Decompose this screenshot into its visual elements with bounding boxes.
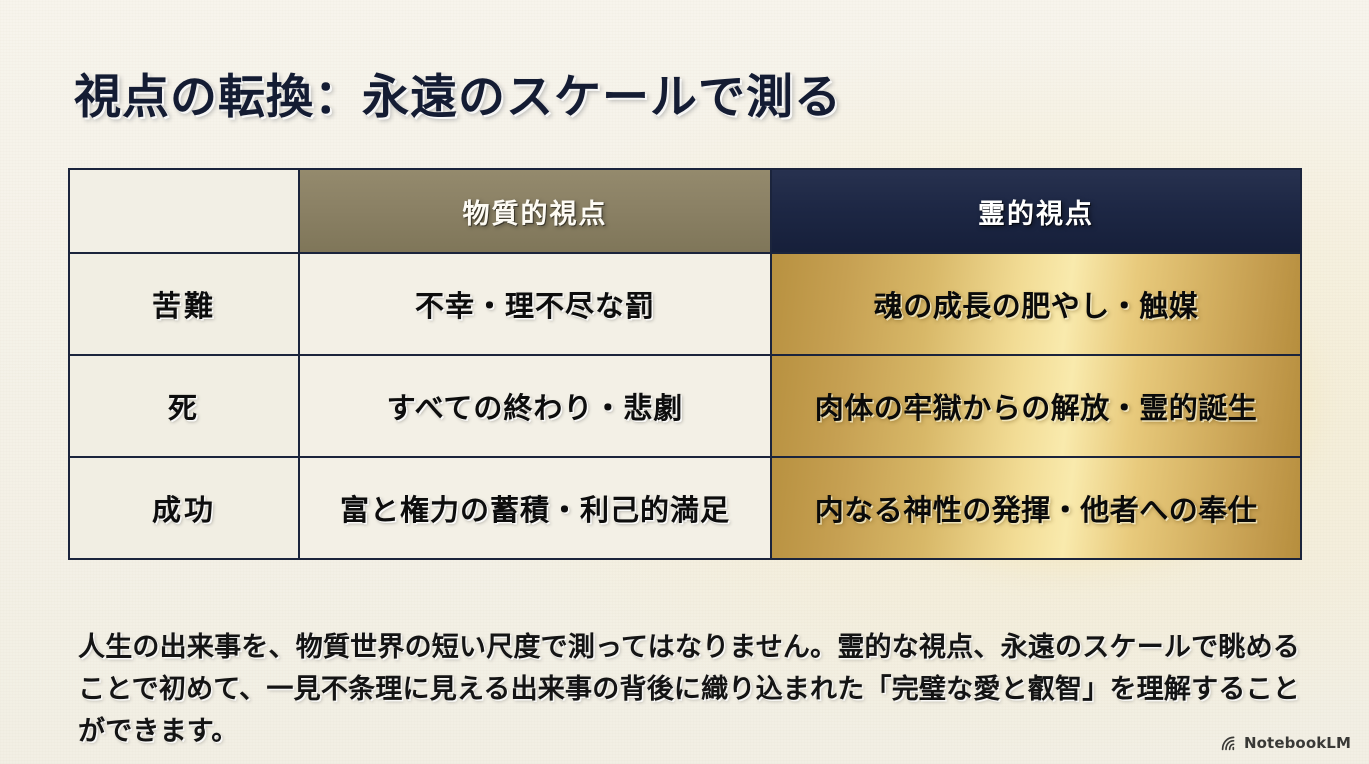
cell-spiritual-success: 内なる神性の発揮・他者への奉仕 xyxy=(771,457,1301,559)
slide-canvas: 視点の転換：永遠のスケールで測る 物質的視点 霊的視点 苦難 不幸・理不尽な罰 xyxy=(0,0,1369,764)
row-label-suffering: 苦難 xyxy=(69,253,299,355)
cell-material-suffering: 不幸・理不尽な罰 xyxy=(299,253,771,355)
notebooklm-label: NotebookLM xyxy=(1244,734,1351,752)
page-title: 視点の転換：永遠のスケールで測る xyxy=(74,58,842,127)
summary-paragraph: 人生の出来事を、物質世界の短い尺度で測ってはなりません。霊的な視点、永遠のスケー… xyxy=(78,627,1300,753)
cell-spiritual-death: 肉体の牢獄からの解放・霊的誕生 xyxy=(771,355,1301,457)
cell-material-death: すべての終わり・悲劇 xyxy=(299,355,771,457)
table-row: 死 すべての終わり・悲劇 肉体の牢獄からの解放・霊的誕生 xyxy=(69,355,1301,457)
cell-spiritual-suffering: 魂の成長の肥やし・触媒 xyxy=(771,253,1301,355)
row-label-success: 成功 xyxy=(69,457,299,559)
table-header: 物質的視点 霊的視点 xyxy=(69,169,1301,253)
table-row: 成功 富と権力の蓄積・利己的満足 内なる神性の発揮・他者への奉仕 xyxy=(69,457,1301,559)
table-header-row: 物質的視点 霊的視点 xyxy=(69,169,1301,253)
notebooklm-watermark: NotebookLM xyxy=(1221,734,1351,752)
row-label-death: 死 xyxy=(69,355,299,457)
column-header-spiritual: 霊的視点 xyxy=(771,169,1301,253)
cell-material-success: 富と権力の蓄積・利己的満足 xyxy=(299,457,771,559)
table-body: 苦難 不幸・理不尽な罰 魂の成長の肥やし・触媒 死 すべての終わり・悲劇 肉体の… xyxy=(69,253,1301,559)
column-header-material: 物質的視点 xyxy=(299,169,771,253)
notebooklm-spiral-icon xyxy=(1221,736,1238,751)
comparison-table: 物質的視点 霊的視点 苦難 不幸・理不尽な罰 魂の成長の肥やし・触媒 死 すべて… xyxy=(68,168,1302,560)
comparison-table-container: 物質的視点 霊的視点 苦難 不幸・理不尽な罰 魂の成長の肥やし・触媒 死 すべて… xyxy=(68,168,1300,560)
table-corner-cell xyxy=(69,169,299,253)
table-row: 苦難 不幸・理不尽な罰 魂の成長の肥やし・触媒 xyxy=(69,253,1301,355)
